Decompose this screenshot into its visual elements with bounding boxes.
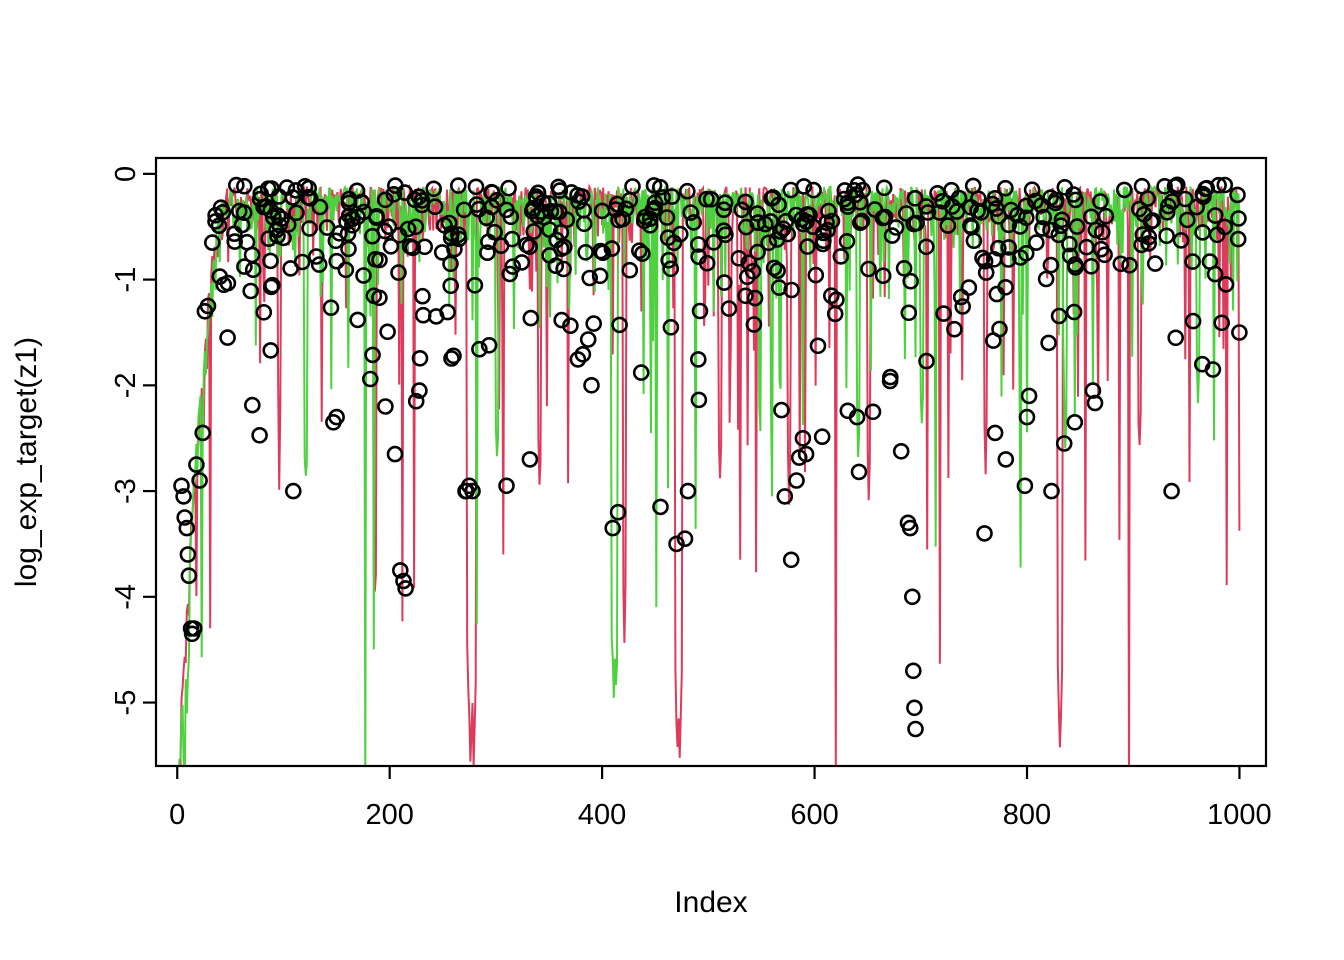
x-tick-label: 800: [1003, 799, 1051, 831]
y-tick-label: 0: [110, 166, 142, 182]
x-axis-title: Index: [674, 886, 747, 919]
x-tick-label: 600: [790, 799, 838, 831]
y-tick-label: -3: [110, 478, 142, 504]
chart-canvas: 02004006008001000 0-1-2-3-4-5 Index log_…: [0, 0, 1344, 960]
x-tick-label: 200: [365, 799, 413, 831]
x-tick-label: 400: [578, 799, 626, 831]
y-tick-label: -4: [110, 584, 142, 610]
x-tick-label: 0: [169, 799, 185, 831]
x-tick-label: 1000: [1207, 799, 1272, 831]
y-tick-label: -5: [110, 690, 142, 716]
y-tick-label: -1: [110, 267, 142, 293]
y-tick-label: -2: [110, 372, 142, 398]
plot-page: 02004006008001000 0-1-2-3-4-5 Index log_…: [0, 0, 1344, 960]
y-axis-title: log_exp_target(z1): [10, 337, 43, 587]
